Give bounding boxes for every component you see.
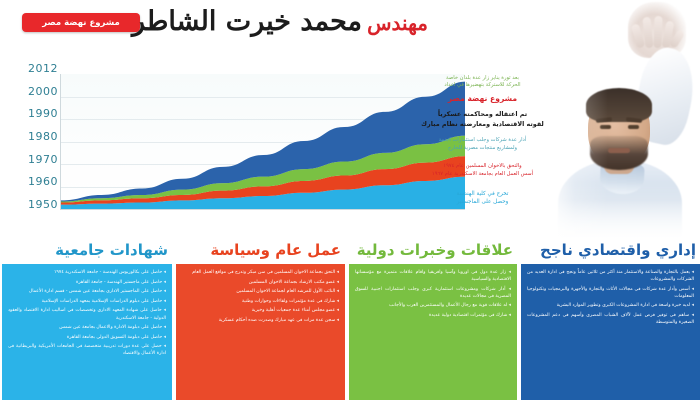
panel-bullet: أدار شركات ومشروعات استثمارية كبرى وجلب …	[355, 286, 511, 300]
panel-bullet: يعمل بالتجارة والصناعة والاستثمار منذ أك…	[527, 269, 694, 283]
panel-bullet: حاصل على دبلوم الدراسات الإسلامية بمعهد …	[8, 298, 166, 305]
panel-bullet: النائب الأول للمرشد العام لجماعة الاخوان…	[182, 288, 339, 295]
panel-bullet: حاصل على بكالوريوس الهندسة - جامعة الاسك…	[8, 269, 166, 276]
y-axis-tick: 2012	[8, 62, 58, 75]
panel-bullet: حاصل على شهادة المعهد الادارى وتخصصات في…	[8, 307, 166, 321]
panel-bullet: شارك فى مؤتمرات اقتصادية دولية عديدة	[355, 312, 511, 319]
section-header-public-work: عمل عام وسياسة	[176, 240, 345, 260]
poster-title: مهندس محمد خيرت الشاطر	[115, 6, 445, 62]
section-panel-public-work: التحق بجماعة الاخوان المسلمين فى سن مبكر…	[176, 264, 345, 400]
title-prefix: مهندس	[367, 11, 428, 35]
section-panels: حاصل على بكالوريوس الهندسة - جامعة الاسك…	[0, 264, 700, 400]
section-header-academic: شهادات جامعية	[2, 240, 172, 260]
section-headers: شهادات جامعيةعمل عام وسياسةعلاقات وخبرات…	[0, 240, 700, 262]
panel-bullet: حاصل على ماجستير الهندسة - جامعة القاهرة	[8, 279, 166, 286]
infographic-poster: مشروع نهضة مصر مهندس محمد خيرت الشاطر	[0, 0, 700, 400]
section-header-international: علاقات وخبرات دولية	[349, 240, 517, 260]
section-header-management: إداري واقتصادي ناجح	[521, 240, 700, 260]
chart-note: أسس العمل العام بجامعة الاسكندرية عام ١٩…	[390, 170, 575, 178]
panel-bullet: عضو مجلس أمناء عدة جمعيات أهلية وخيرية	[182, 307, 339, 314]
y-axis-tick: 2000	[8, 85, 58, 98]
panel-bullet: سجن عدة مرات فى عهد مبارك وصدرت ضده أحكا…	[182, 317, 339, 324]
panel-bullet: زار عدة دول فى اوروبا وآسيا وافريقيا واق…	[355, 269, 511, 283]
panel-bullet: أسس وأدار عدة شركات فى مجالات الأثاث وال…	[527, 286, 694, 300]
chart-y-axis: 2012200019901980197019601950	[6, 66, 58, 216]
chart-note: تم اعتقاله ومحاكمته عسكرياً	[390, 110, 575, 120]
chart-note: أدار عدة شركات وجلب استثمارات اجنبية	[390, 136, 575, 144]
y-axis-tick: 1970	[8, 153, 58, 166]
panel-bullet: حاصل على الماجستير الاداري بجامعة عين شم…	[8, 288, 166, 295]
chart-note: لقوته الاقتصادية ومعارضته نظام مبارك	[390, 120, 575, 130]
panel-bullet: لديه خبرة واسعة فى ادارة المشروعات الكبر…	[527, 302, 694, 309]
y-axis-tick: 1960	[8, 175, 58, 188]
title-name: محمد خيرت الشاطر	[132, 6, 362, 37]
chart-note: مشروع نهضة مصر	[390, 93, 575, 105]
chart-note: ولمشاريع منتجات مصرية للخارج	[390, 144, 575, 152]
section-panel-management: يعمل بالتجارة والصناعة والاستثمار منذ أك…	[521, 264, 700, 400]
chart-annotations: بعد ثورة يناير زار عدة بلدان خاصةالحركة …	[390, 66, 575, 232]
panel-bullet: له علاقات قوية مع رجال الأعمال والمستثمر…	[355, 302, 511, 309]
panel-bullet: شارك فى عدة مؤتمرات ولقاءات وحوارات وطني…	[182, 298, 339, 305]
panel-bullet: حاصل على دبلومة التسويق الدولى بجامعة ال…	[8, 334, 166, 341]
y-axis-tick: 1950	[8, 198, 58, 211]
section-panel-international: زار عدة دول فى اوروبا وآسيا وافريقيا واق…	[349, 264, 517, 400]
chart-note: والتحق بالاخوان المسلمين عام ١٩٧٤	[390, 162, 575, 170]
panel-bullet: ساهم فى توفير فرص عمل لآلاف الشباب المصر…	[527, 312, 694, 326]
y-axis-tick: 1990	[8, 107, 58, 120]
panel-bullet: التحق بجماعة الاخوان المسلمين فى سن مبكر…	[182, 269, 339, 276]
chart-note: الحركة للاستركة بتهضيرها في اعداد	[390, 81, 575, 89]
panel-bullet: حاصل على دبلومة الادارة والاعمال بجامعة …	[8, 324, 166, 331]
y-axis-tick: 1980	[8, 130, 58, 143]
chart-note: وحصل على الماجستير	[390, 198, 575, 207]
panel-bullet: عضو مكتب الارشاد بجماعة الاخوان المسلمين	[182, 279, 339, 286]
panel-bullet: حصل على عدة دورات تدريبية متخصصة فى الجا…	[8, 343, 166, 357]
section-panel-academic: حاصل على بكالوريوس الهندسة - جامعة الاسك…	[2, 264, 172, 400]
